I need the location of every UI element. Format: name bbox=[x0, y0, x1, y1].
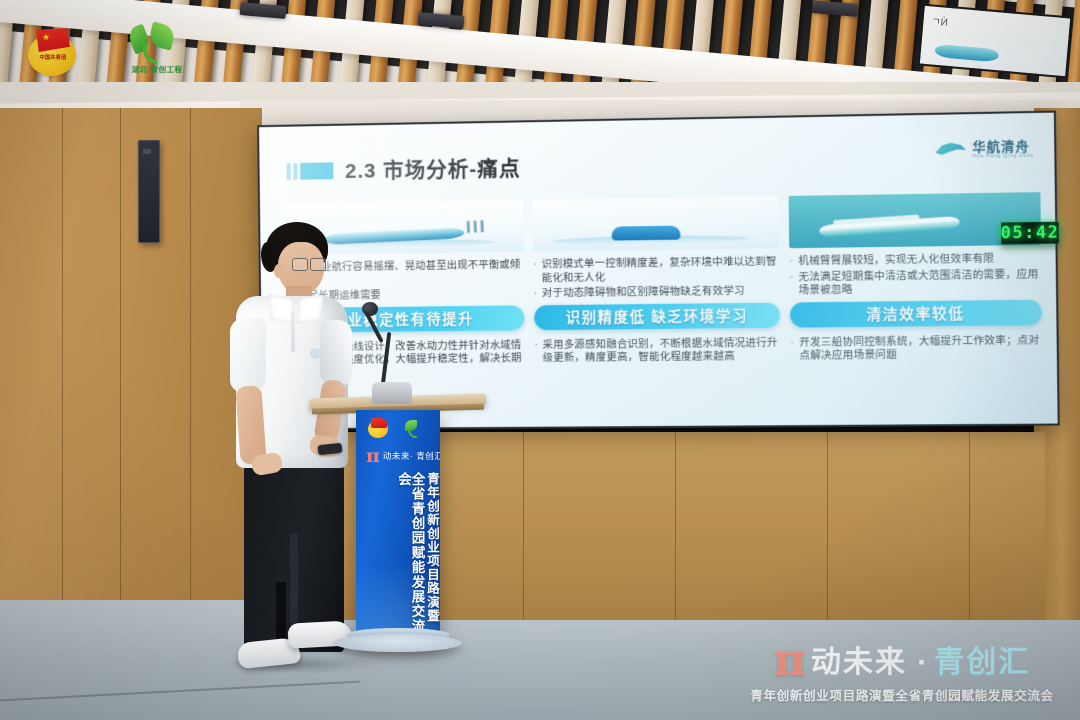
presenter-sleeve-right bbox=[320, 320, 352, 386]
unmanned-blue-boat-photo bbox=[533, 196, 780, 251]
podium-tagline-text: 动未来· bbox=[383, 450, 413, 462]
bullet-dot: · bbox=[790, 271, 794, 298]
column-speaker bbox=[138, 140, 160, 243]
solution-text: 采用多源感知融合识别，不断根据水域情况进行升级更新，精度更高，智能化程度越来越高 bbox=[542, 336, 780, 365]
hubei-logo-caption: 湖北·青创工程 bbox=[120, 64, 194, 75]
slide-title: 2.3 市场分析-痛点 bbox=[345, 152, 521, 185]
communist-youth-league-emblem-icon: ★ 中国共青团 bbox=[26, 24, 78, 76]
presenter-collar-right bbox=[296, 294, 323, 323]
countdown-timer: 05:42 bbox=[1001, 222, 1059, 245]
bullet-text: 识别模式单一控制精度差，复杂环境中难以达到智能化和无人化 bbox=[541, 255, 779, 285]
watermark-pi-symbol: π bbox=[774, 642, 806, 680]
podium-banner: π 动未来· 青创汇 青年创新创业项目路演暨 全省青创园赋能发展交流会 bbox=[356, 410, 440, 642]
overhead-display-boat-image bbox=[934, 44, 999, 63]
presenter-sleeve-left bbox=[230, 318, 266, 392]
presenter-ear bbox=[274, 264, 284, 278]
presenter-leg-gap bbox=[276, 582, 286, 646]
bullet-item: · 对于动态障碍物和区别障碍物缺乏有效学习 bbox=[534, 285, 781, 301]
boat-shape bbox=[819, 216, 960, 237]
presenter-chest-logo bbox=[310, 348, 321, 359]
hubei-youth-innovation-emblem-icon: 湖北·青创工程 bbox=[120, 24, 194, 76]
watermark-title: π 动未来 · 青创汇 bbox=[742, 642, 1062, 680]
podium-youth-league-icon bbox=[368, 420, 388, 438]
podium-tagline: π 动未来· 青创汇 bbox=[366, 446, 432, 466]
overhead-display-text: ㄱЍ bbox=[931, 12, 949, 28]
bullet-dot: · bbox=[534, 287, 537, 300]
wave-logo-icon bbox=[935, 142, 966, 160]
bullet-list-3: · 机械臂臂展较短，实现无人化但效率有限 · 无法满足短期集中清洁或大范围清洁的… bbox=[790, 252, 1042, 298]
banner-text: 识别精度低 缺乏环境学习 bbox=[565, 304, 748, 327]
boat-shape bbox=[611, 226, 680, 241]
solution-block-2: · 采用多源感知融合识别，不断根据水域情况进行升级更新，精度更高，智能化程度越来… bbox=[534, 336, 781, 365]
pain-point-column-3: · 机械臂臂展较短，实现无人化但效率有限 · 无法满足短期集中清洁或大范围清洁的… bbox=[789, 192, 1043, 379]
event-brand-logos: ★ 中国共青团 湖北·青创工程 bbox=[26, 24, 194, 76]
pain-point-banner-2: 识别精度低 缺乏环境学习 bbox=[534, 302, 781, 330]
bullet-dot: · bbox=[533, 258, 537, 285]
secondary-overhead-display: ㄱЍ bbox=[918, 4, 1073, 79]
solution-block-3: · 开发三船协同控制系统，大幅提升工作效率；点对点解决应用场景问题 bbox=[791, 334, 1043, 364]
solution-item: · 开发三船协同控制系统，大幅提升工作效率；点对点解决应用场景问题 bbox=[791, 334, 1043, 364]
banner-text: 清洁效率较低 bbox=[866, 302, 965, 324]
podium-vertical-line-1: 青年创新创业项目路演暨 bbox=[426, 472, 439, 640]
event-watermark: π 动未来 · 青创汇 青年创新创业项目路演暨全省青创园赋能发展交流会 bbox=[742, 642, 1062, 704]
pain-point-column-2: · 识别模式单一控制精度差，复杂环境中难以达到智能化和无人化 · 对于动态障碍物… bbox=[533, 196, 782, 381]
watermark-subtitle: 青年创新创业项目路演暨全省青创园赋能发展交流会 bbox=[742, 685, 1062, 704]
lectern: π 动未来· 青创汇 青年创新创业项目路演暨 全省青创园赋能发展交流会 bbox=[310, 380, 500, 680]
company-logo: 华航清舟 Hua Hang Qing Zhou bbox=[935, 139, 1033, 160]
podium-vertical-text: 青年创新创业项目路演暨 全省青创园赋能发展交流会 bbox=[364, 472, 438, 640]
watermark-title-part2: 青创汇 bbox=[934, 646, 1030, 680]
podium-vertical-line-2: 全省青创园赋能发展交流会 bbox=[397, 472, 424, 640]
presenter-forearm-left bbox=[235, 385, 266, 465]
timer-value: 05:42 bbox=[1001, 223, 1060, 244]
presenter-shirt-placket bbox=[291, 312, 295, 352]
bullet-dot: · bbox=[791, 336, 795, 363]
bullet-item: · 识别模式单一控制精度差，复杂环境中难以达到智能化和无人化 bbox=[533, 255, 780, 285]
solution-text: 开发三船协同控制系统，大幅提升工作效率；点对点解决应用场景问题 bbox=[799, 334, 1042, 364]
microphone-base bbox=[372, 382, 412, 404]
podium-pi-symbol: π bbox=[366, 447, 380, 465]
presenter-glasses bbox=[292, 258, 326, 270]
bullet-dot: · bbox=[790, 255, 794, 269]
slide-columns: · 高速作业航行容易摇摆、晃动甚至出现不平衡或倾覆； 不满足长期运维需要 作业稳… bbox=[281, 192, 1042, 383]
bullet-text: 对于动态障碍物和区别障碍物缺乏有效学习 bbox=[542, 285, 745, 301]
podium-logos bbox=[368, 420, 420, 438]
bullet-text: 机械臂臂展较短，实现无人化但效率有限 bbox=[798, 253, 994, 269]
watermark-title-part1: 动未来 · bbox=[811, 646, 929, 680]
bullet-list-2: · 识别模式单一控制精度差，复杂环境中难以达到智能化和无人化 · 对于动态障碍物… bbox=[533, 255, 780, 300]
company-name-en: Hua Hang Qing Zhou bbox=[972, 153, 1034, 159]
slide-title-accent-bars bbox=[287, 162, 334, 180]
pain-point-banner-3: 清洁效率较低 bbox=[790, 299, 1042, 327]
bullet-item: · 无法满足短期集中清洁或大范围清洁的需要，应用场景被忽略 bbox=[790, 268, 1042, 298]
bullet-item: · 机械臂臂展较短，实现无人化但效率有限 bbox=[790, 252, 1042, 269]
podium-sprout-icon bbox=[402, 420, 420, 438]
slide-header: 2.3 市场分析-痛点 bbox=[287, 152, 521, 186]
speaker-grill-detail bbox=[143, 149, 151, 154]
bullet-dot: · bbox=[534, 339, 538, 366]
youth-league-caption: 中国共青团 bbox=[33, 54, 73, 61]
bullet-text: 无法满足短期集中清洁或大范围清洁的需要，应用场景被忽略 bbox=[798, 268, 1041, 298]
podium-tagline-text-2: 青创汇 bbox=[416, 450, 440, 462]
conference-presentation-photo: ㄱЍ 2.3 市场分析-痛点 华 bbox=[0, 0, 1080, 720]
podium-base bbox=[334, 634, 462, 652]
solution-item: · 采用多源感知融合识别，不断根据水域情况进行升级更新，精度更高，智能化程度越来… bbox=[534, 336, 781, 365]
